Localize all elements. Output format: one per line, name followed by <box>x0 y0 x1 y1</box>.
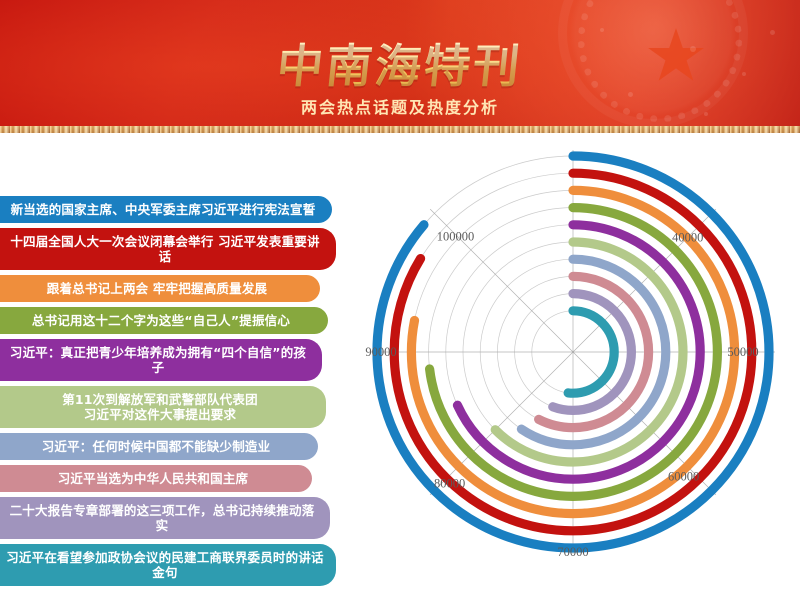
topic-pill-6[interactable]: 第11次到解放军和武警部队代表团 习近平对这件大事提出要求 <box>0 386 326 428</box>
axis-tick-label-60000: 60000 <box>668 470 699 484</box>
topic-pill-10[interactable]: 习近平在看望参加政协会议的民建工商联界委员时的讲话金句 <box>0 544 336 586</box>
axis-tick-label-100000: 100000 <box>437 230 475 244</box>
topic-pill-label: 跟着总书记上两会 牢牢把握高质量发展 <box>47 281 267 296</box>
infographic-root: 中南海特刊 两会热点话题及热度分析 新当选的国家主席、中央军委主席习近平进行宪法… <box>0 0 800 572</box>
topic-pill-8[interactable]: 习近平当选为中华人民共和国主席 <box>0 465 312 492</box>
topic-pill-2[interactable]: 十四届全国人大一次会议闭幕会举行 习近平发表重要讲话 <box>0 228 336 270</box>
axis-tick-label-40000: 40000 <box>672 230 703 244</box>
topic-pill-5[interactable]: 习近平：真正把青少年培养成为拥有“四个自信”的孩子 <box>0 339 322 381</box>
axis-tick-label-80000: 80000 <box>434 476 465 490</box>
topic-pill-9[interactable]: 二十大报告专章部署的这三项工作，总书记持续推动落实 <box>0 497 330 539</box>
topic-pill-1[interactable]: 新当选的国家主席、中央军委主席习近平进行宪法宣誓 <box>0 196 332 223</box>
page-title: 中南海特刊 <box>0 30 800 96</box>
gold-divider <box>0 126 800 133</box>
topic-pill-label: 第11次到解放军和武警部队代表团 习近平对这件大事提出要求 <box>62 392 258 422</box>
axis-tick-label-90000: 90000 <box>365 345 396 359</box>
topic-pill-label: 十四届全国人大一次会议闭幕会举行 习近平发表重要讲话 <box>10 234 319 264</box>
topic-pill-label: 新当选的国家主席、中央军委主席习近平进行宪法宣誓 <box>11 202 316 217</box>
axis-tick-label-70000: 70000 <box>557 545 588 559</box>
axis-tick-label-50000: 50000 <box>727 345 758 359</box>
topic-pill-3[interactable]: 跟着总书记上两会 牢牢把握高质量发展 <box>0 275 320 302</box>
topic-pill-4[interactable]: 总书记用这十二个字为这些“自己人”提振信心 <box>0 307 328 334</box>
page-subtitle: 两会热点话题及热度分析 <box>0 94 800 118</box>
topic-pill-label: 习近平：真正把青少年培养成为拥有“四个自信”的孩子 <box>10 345 306 375</box>
header-banner: 中南海特刊 两会热点话题及热度分析 <box>0 0 800 133</box>
chart-canvas: 400005000060000700008000090000100000 <box>336 133 800 572</box>
spiral-radial-bar-chart: 400005000060000700008000090000100000 <box>336 133 800 572</box>
topic-pill-7[interactable]: 习近平：任何时候中国都不能缺少制造业 <box>0 433 318 460</box>
topic-pill-label: 习近平当选为中华人民共和国主席 <box>58 471 249 486</box>
topic-pill-label: 习近平在看望参加政协会议的民建工商联界委员时的讲话金句 <box>6 550 324 580</box>
topic-pill-label: 二十大报告专章部署的这三项工作，总书记持续推动落实 <box>10 503 315 533</box>
topic-legend-list: 新当选的国家主席、中央军委主席习近平进行宪法宣誓十四届全国人大一次会议闭幕会举行… <box>0 196 336 591</box>
topic-pill-label: 习近平：任何时候中国都不能缺少制造业 <box>42 439 271 454</box>
topic-pill-label: 总书记用这十二个字为这些“自己人”提振信心 <box>32 313 290 328</box>
